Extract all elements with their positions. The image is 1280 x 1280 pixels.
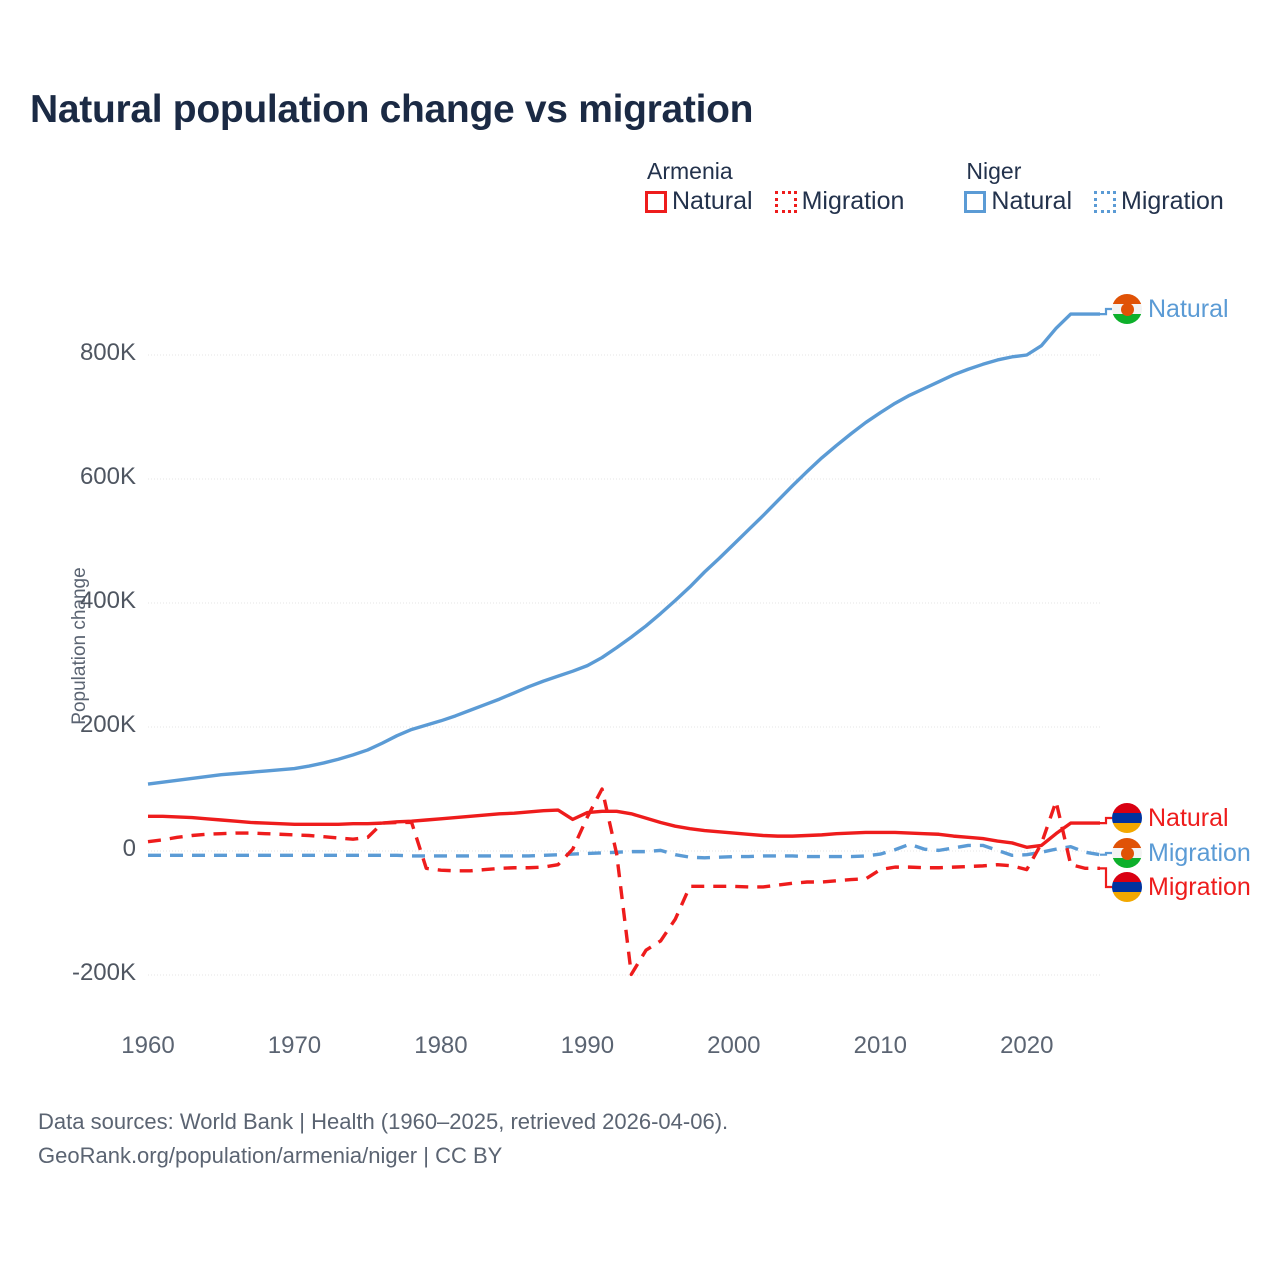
series-line-armenia-natural: [148, 810, 1100, 847]
leader-line: [1100, 309, 1112, 314]
y-tick-label: 200K: [16, 711, 136, 739]
y-tick-label: -200K: [16, 959, 136, 987]
end-label-text: Natural: [1148, 297, 1229, 322]
x-tick-label: 2020: [972, 1032, 1082, 1060]
y-tick-label: 800K: [16, 339, 136, 367]
series-line-armenia-migration: [148, 789, 1100, 974]
leader-line: [1100, 818, 1112, 823]
niger-flag-icon: [1112, 838, 1142, 868]
x-tick-label: 1960: [93, 1032, 203, 1060]
end-label-text: Natural: [1148, 806, 1229, 831]
x-tick-label: 1970: [239, 1032, 349, 1060]
x-tick-label: 2010: [825, 1032, 935, 1060]
chart-canvas: [0, 0, 1280, 1280]
armenia-flag-icon: [1112, 872, 1142, 902]
x-tick-label: 1980: [386, 1032, 496, 1060]
end-label-text: Migration: [1148, 841, 1251, 866]
niger-flag-icon: [1112, 294, 1142, 324]
series-line-niger-migration: [148, 844, 1100, 858]
end-label-armenia-natural: Natural: [1112, 803, 1229, 833]
footer-attribution: GeoRank.org/population/armenia/niger | C…: [38, 1139, 728, 1173]
leader-line: [1100, 853, 1112, 855]
plot-area: Population change -200K0200K400K600K800K…: [0, 0, 1280, 1280]
end-label-niger-natural: Natural: [1112, 294, 1229, 324]
footer: Data sources: World Bank | Health (1960–…: [38, 1105, 728, 1173]
series-line-niger-natural: [148, 314, 1100, 784]
x-tick-label: 2000: [679, 1032, 789, 1060]
end-label-armenia-migration: Migration: [1112, 872, 1251, 902]
leader-line: [1100, 868, 1112, 887]
y-tick-label: 600K: [16, 463, 136, 491]
footer-sources: Data sources: World Bank | Health (1960–…: [38, 1105, 728, 1139]
end-label-text: Migration: [1148, 875, 1251, 900]
y-tick-label: 0: [16, 835, 136, 863]
x-tick-label: 1990: [532, 1032, 642, 1060]
end-label-niger-migration: Migration: [1112, 838, 1251, 868]
armenia-flag-icon: [1112, 803, 1142, 833]
chart-page: Natural population change vs migration A…: [0, 0, 1280, 1280]
y-tick-label: 400K: [16, 587, 136, 615]
